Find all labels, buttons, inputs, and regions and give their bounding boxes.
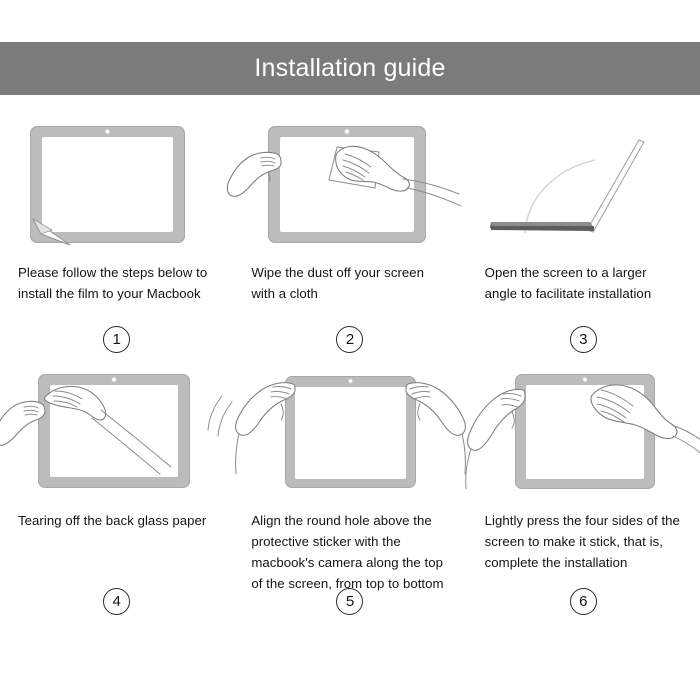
step-number: 5 — [336, 588, 363, 615]
step-caption: Please follow the steps below to install… — [18, 262, 215, 304]
step-badge: 3 — [467, 326, 700, 353]
step-number: 1 — [103, 326, 130, 353]
page-title: Installation guide — [254, 56, 445, 81]
hand-wiping-screen-with-cloth-icon — [251, 118, 448, 250]
step-caption: Wipe the dust off your screen with a clo… — [251, 262, 448, 304]
step-caption: Open the screen to a larger angle to fac… — [485, 262, 682, 304]
step-caption: Lightly press the four sides of the scre… — [485, 510, 682, 573]
step-badge: 2 — [233, 326, 466, 353]
step-panel-4: Tearing off the back glass paper 4 — [0, 366, 233, 628]
header-banner: Installation guide — [0, 42, 700, 95]
hand-tearing-back-paper-icon — [18, 366, 215, 498]
laptop-opening-side-view-icon — [485, 118, 682, 250]
two-hands-aligning-film-icon — [251, 366, 448, 498]
step-number: 2 — [336, 326, 363, 353]
step-badge: 4 — [0, 588, 233, 615]
step-badge: 1 — [0, 326, 233, 353]
step-panel-1: Please follow the steps below to install… — [0, 118, 233, 366]
screen-with-peeling-film-corner-icon — [18, 118, 215, 250]
step-panel-6: Lightly press the four sides of the scre… — [467, 366, 700, 628]
step-number: 4 — [103, 588, 130, 615]
step-caption: Tearing off the back glass paper — [18, 510, 215, 531]
step-badge: 5 — [233, 588, 466, 615]
step-number: 6 — [570, 588, 597, 615]
step-number: 3 — [570, 326, 597, 353]
hands-pressing-screen-edges-icon — [485, 366, 682, 498]
step-caption: Align the round hole above the protectiv… — [251, 510, 448, 594]
step-panel-3: Open the screen to a larger angle to fac… — [467, 118, 700, 366]
steps-grid: Please follow the steps below to install… — [0, 118, 700, 678]
step-panel-2: Wipe the dust off your screen with a clo… — [233, 118, 466, 366]
step-badge: 6 — [467, 588, 700, 615]
step-panel-5: Align the round hole above the protectiv… — [233, 366, 466, 628]
